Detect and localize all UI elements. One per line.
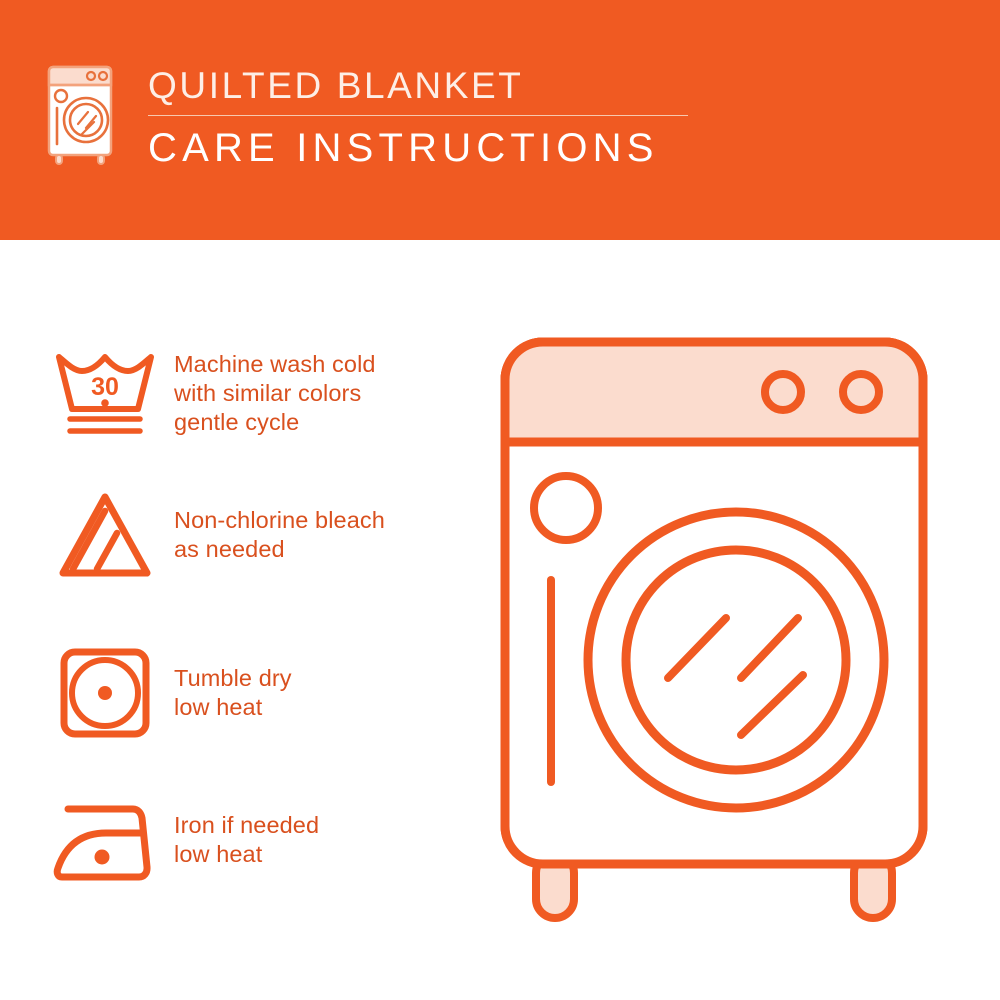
- page-title-main: CARE INSTRUCTIONS: [148, 125, 688, 171]
- care-item-tumble-dry: Tumble dry low heat: [44, 638, 474, 748]
- front-load-washing-machine-illustration: [488, 330, 968, 940]
- care-item-label: Iron if needed low heat: [166, 811, 319, 869]
- care-icon-slot: 30: [44, 338, 166, 448]
- wash-tub-30-gentle-icon: 30: [50, 343, 160, 443]
- care-instructions-list: 30 Machine wash cold with similar colors…: [0, 240, 480, 1000]
- care-item-label: Non-chlorine bleach as needed: [166, 506, 385, 564]
- washing-machine-icon: [42, 62, 128, 166]
- non-chlorine-bleach-triangle-icon: [55, 489, 155, 581]
- care-icon-slot: [44, 638, 166, 748]
- wash-temperature-value: 30: [91, 373, 119, 401]
- care-item-machine-wash: 30 Machine wash cold with similar colors…: [44, 338, 474, 448]
- care-icon-slot: [44, 480, 166, 590]
- header-content: QUILTED BLANKET CARE INSTRUCTIONS: [42, 62, 688, 171]
- header-title-group: QUILTED BLANKET CARE INSTRUCTIONS: [148, 62, 688, 171]
- page-title-product: QUILTED BLANKET: [148, 64, 688, 108]
- care-icon-slot: [44, 785, 166, 895]
- control-panel: [505, 342, 923, 442]
- care-instructions-infographic: QUILTED BLANKET CARE INSTRUCTIONS 30: [0, 0, 1000, 1000]
- header-banner: QUILTED BLANKET CARE INSTRUCTIONS: [0, 0, 1000, 240]
- tumble-dry-low-heat-icon: [57, 645, 153, 741]
- care-item-iron: Iron if needed low heat: [44, 785, 474, 895]
- care-item-bleach: Non-chlorine bleach as needed: [44, 480, 474, 590]
- header-divider: [148, 115, 688, 116]
- care-item-label: Machine wash cold with similar colors ge…: [166, 350, 376, 437]
- iron-low-heat-icon: [50, 797, 160, 883]
- care-item-label: Tumble dry low heat: [166, 664, 292, 722]
